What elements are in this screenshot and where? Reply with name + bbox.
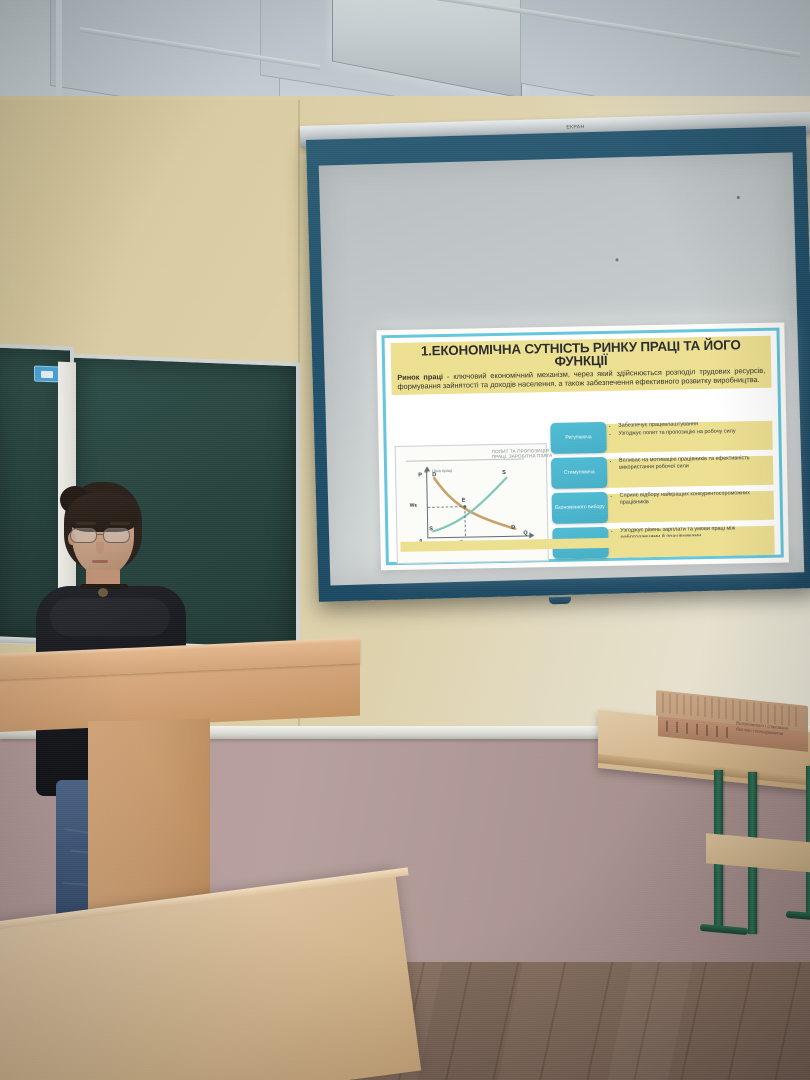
- function-point: Сприяє відбору найкращих конкурентоспром…: [620, 490, 772, 507]
- function-tag: Економічного вибору: [552, 492, 609, 524]
- nose: [96, 542, 104, 554]
- function-point: Впливає на мотивацію працівників та ефек…: [619, 455, 771, 472]
- x-axis-title: Кількість праці: [450, 569, 480, 570]
- functions-list: Регулююча Забезпечує працевлаштування Уз…: [550, 419, 774, 554]
- eyebrow: [110, 522, 130, 525]
- lectern-column: [88, 719, 210, 912]
- screen-pull-knob[interactable]: [549, 597, 571, 605]
- mouth: [92, 560, 108, 563]
- chart-plot-area: P Q D D S S E Wᴇ Qᴇ 0 Ц: [410, 468, 533, 542]
- demand-label-bottom: D: [511, 525, 515, 531]
- supply-label-top: S: [502, 470, 506, 476]
- cardboard-box: Виготовлено і спаковано без гмо і консер…: [650, 698, 810, 754]
- eyeglasses-icon: [70, 528, 136, 543]
- function-row: Регулююча Забезпечує працевлаштування Уз…: [550, 419, 773, 456]
- supply-label-bottom: S: [429, 526, 433, 532]
- projector-screen[interactable]: 1.ЕКОНОМІЧНА СУТНІСТЬ РИНКУ ПРАЦІ ТА ЙОГ…: [306, 126, 810, 602]
- function-row: Стимулююча Впливає на мотивацію працівни…: [551, 454, 774, 491]
- function-row: Економічного вибору Сприяє відбору найкр…: [552, 489, 775, 526]
- screen-housing-label: ЕКРАН: [566, 124, 584, 131]
- function-points: Забезпечує працевлаштування Узгоджує поп…: [612, 420, 770, 439]
- function-point: Узгоджує попит та пропозицію на робочу с…: [618, 428, 770, 438]
- presentation-slide: 1.ЕКОНОМІЧНА СУТНІСТЬ РИНКУ ПРАЦІ ТА ЙОГ…: [376, 323, 789, 571]
- lectern: [0, 648, 380, 908]
- y-axis-title: Ціна праці: [432, 468, 452, 473]
- slide-header-band: 1.ЕКОНОМІЧНА СУТНІСТЬ РИНКУ ПРАЦІ ТА ЙОГ…: [391, 336, 772, 395]
- y-axis-symbol: P: [418, 472, 422, 478]
- projection-surface: 1.ЕКОНОМІЧНА СУТНІСТЬ РИНКУ ПРАЦІ ТА ЙОГ…: [319, 152, 805, 585]
- hair-front: [68, 492, 138, 532]
- function-tag: Стимулююча: [551, 457, 608, 489]
- equilibrium-wage-label: Wᴇ: [410, 503, 417, 509]
- necklace-charm: [98, 588, 108, 597]
- equilibrium-label: E: [462, 498, 466, 504]
- function-tag: Регулююча: [550, 422, 607, 454]
- x-axis-symbol: Q: [523, 530, 527, 536]
- eyebrow: [76, 522, 96, 525]
- function-points: Впливає на мотивацію працівників та ефек…: [613, 455, 771, 473]
- classroom-photo: ЕКРАН 1.ЕКОНОМІЧНА СУТНІСТЬ РИНКУ ПРАЦІ …: [0, 0, 810, 1080]
- board-sticker-icon: [34, 366, 60, 383]
- function-points: Сприяє відбору найкращих конкурентоспром…: [614, 490, 772, 508]
- wall-left-section: [0, 100, 300, 360]
